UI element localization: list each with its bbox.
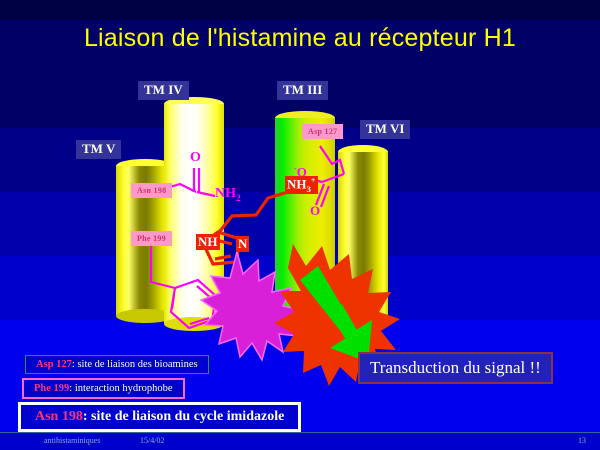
transduction-callout: Transduction du signal !!	[358, 352, 553, 384]
legend-residue: Phe 199	[34, 383, 69, 394]
legend-item-asp127: Asp 127: site de liaison des bioamines	[25, 355, 209, 374]
footer-subject: antihistaminiques	[44, 436, 100, 445]
helix-label-tm4: TM IV	[138, 81, 189, 100]
atom-label-amide-oxygen: O	[190, 150, 201, 166]
footer-date: 15/4/02	[140, 436, 164, 445]
helix-label-tm6: TM VI	[360, 120, 410, 139]
footer-divider	[0, 432, 600, 433]
phe199-leader-line	[151, 243, 175, 288]
helix-label-tm3: TM III	[277, 81, 328, 100]
atom-label-carboxylate-o-minus: -O	[294, 164, 307, 180]
legend-item-phe199: Phe 199: interaction hydrophobe	[22, 378, 185, 399]
atom-subscript: 2	[236, 194, 241, 204]
legend-description: site de liaison du cycle imidazole	[91, 409, 284, 424]
legend-residue: Asn 198	[35, 409, 83, 424]
footer-page-number: 13	[578, 436, 586, 445]
callout-asp127: Asp 127	[302, 124, 343, 139]
atom-label-amide-nh2: NH2	[215, 186, 241, 204]
slide-canvas: Liaison de l'histamine au récepteur H1	[0, 0, 600, 450]
atom-superscript: +	[311, 176, 316, 185]
legend-residue: Asp 127	[36, 359, 72, 370]
legend-description: interaction hydrophobe	[75, 383, 173, 394]
atom-label-carboxylate-o: O	[310, 203, 320, 219]
callout-asn198: Asn 198	[131, 183, 172, 198]
magenta-starburst	[201, 252, 301, 360]
legend-description: site de liaison des bioamines	[77, 359, 197, 370]
callout-phe199: Phe 199	[131, 231, 172, 246]
atom-text: O	[297, 164, 307, 179]
legend-item-asn198: Asn 198: site de liaison du cycle imidaz…	[18, 402, 301, 432]
atom-label-imidazole-nh: NH	[196, 234, 220, 250]
atom-text: NH	[215, 186, 236, 201]
helix-label-tm5: TM V	[76, 140, 121, 159]
atom-subscript: 3	[307, 184, 311, 194]
atom-label-imidazole-n: N	[236, 236, 249, 252]
legend-separator: :	[83, 409, 91, 424]
